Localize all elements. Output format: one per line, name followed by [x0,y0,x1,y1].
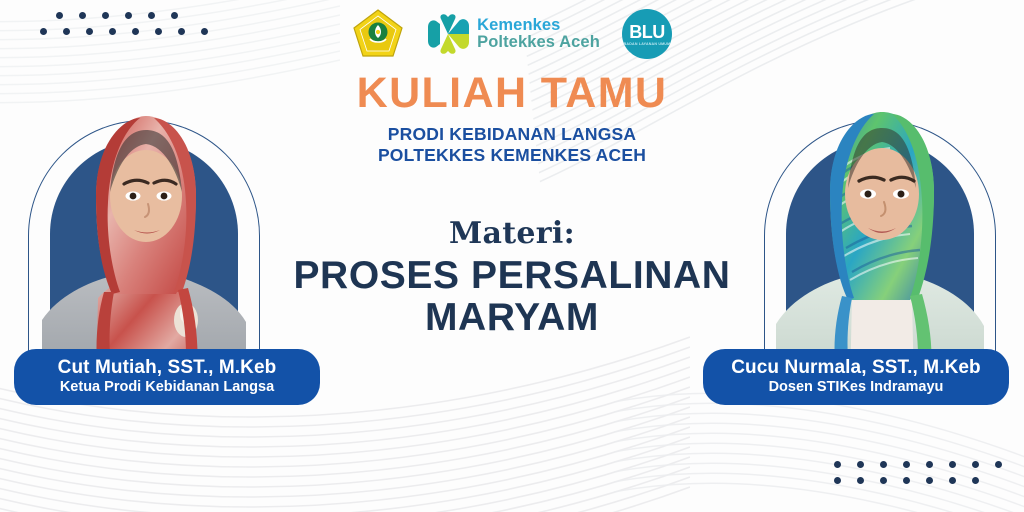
speaker-left-role: Ketua Prodi Kebidanan Langsa [60,379,274,396]
decor-dot [880,461,887,468]
speaker-right-photo [772,84,988,384]
decor-dot [857,461,864,468]
event-subtitle-line1: PRODI KEBIDANAN LANGSA [282,124,742,145]
speaker-left-name: Cut Mutiah, SST., M.Keb [58,357,277,378]
poster-canvas: Kemenkes Poltekkes Aceh BLU BADAN LAYANA… [0,0,1024,512]
decor-dot [178,28,185,35]
decor-dot [880,477,887,484]
decor-dot [995,461,1002,468]
decor-dot [972,461,979,468]
decor-dot [201,28,208,35]
kemenkes-line1: Kemenkes [477,17,600,34]
decor-dot [903,461,910,468]
decor-dot [125,12,132,19]
stikes-indramayu-logo [352,8,404,60]
decor-dot [56,12,63,19]
kemenkes-wordmark: Kemenkes Poltekkes Aceh [477,17,600,51]
decor-dot [834,461,841,468]
decor-dot [926,477,933,484]
topic-title-line1: PROSES PERSALINAN [252,255,772,297]
decor-dot [79,12,86,19]
decor-dot [155,28,162,35]
logo-row: Kemenkes Poltekkes Aceh BLU BADAN LAYANA… [352,6,672,62]
kemenkes-mark-icon [426,13,470,55]
decor-dot [972,477,979,484]
decor-dot [40,28,47,35]
decor-dot [109,28,116,35]
topic-label: Materi: [282,216,742,251]
kemenkes-poltekkes-logo: Kemenkes Poltekkes Aceh [426,13,600,55]
dot-grid-bottom-right [834,461,1002,484]
decor-dot [857,477,864,484]
dot-grid-top-left [40,12,208,35]
event-title: KULIAH TAMU [282,72,742,115]
decor-dot [86,28,93,35]
speaker-right-badge: Cucu Nurmala, SST., M.Keb Dosen STIKes I… [703,349,1009,405]
decor-dot [63,28,70,35]
decor-dot [132,28,139,35]
blu-subtext: BADAN LAYANAN UMUM [624,42,671,46]
decor-dot [949,461,956,468]
kemenkes-line2: Poltekkes Aceh [477,34,600,51]
decor-dot [102,12,109,19]
blu-wordmark: BLU [629,23,665,41]
blu-logo: BLU BADAN LAYANAN UMUM [622,9,672,59]
hero-block: KULIAH TAMU PRODI KEBIDANAN LANGSA POLTE… [282,72,742,165]
speaker-right-name: Cucu Nurmala, SST., M.Keb [731,357,981,378]
decor-dot [148,12,155,19]
decor-dot [171,12,178,19]
speaker-right-role: Dosen STIKes Indramayu [769,379,944,396]
decor-dot [834,477,841,484]
decor-dot [949,477,956,484]
topic-title-line2: MARYAM [252,297,772,339]
speaker-left-badge: Cut Mutiah, SST., M.Keb Ketua Prodi Kebi… [14,349,320,405]
decor-dot [903,477,910,484]
speaker-left-photo [36,84,252,384]
decor-dot [926,461,933,468]
topic-title: PROSES PERSALINAN MARYAM [252,255,772,339]
event-subtitle-line2: POLTEKKES KEMENKES ACEH [282,145,742,166]
